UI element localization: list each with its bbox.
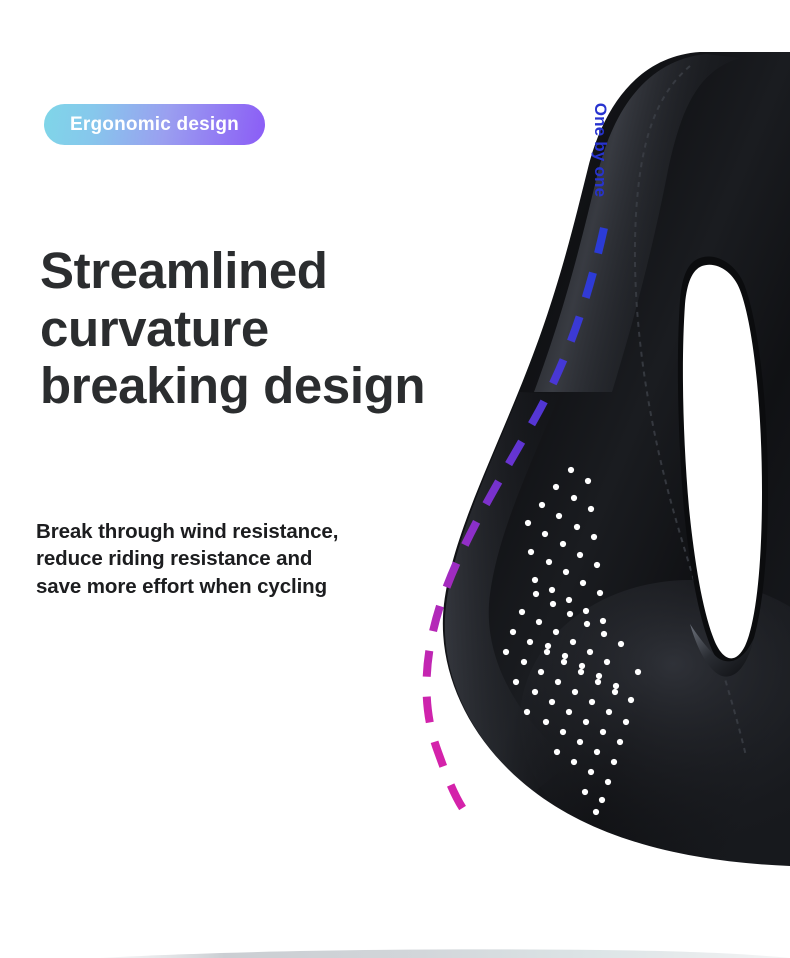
subcopy-line-2: reduce riding resistance and xyxy=(36,545,456,572)
page-headline: Streamlined curvature breaking design xyxy=(40,242,510,415)
ergonomic-design-badge[interactable]: Ergonomic design xyxy=(44,104,265,145)
saddle-cutout xyxy=(678,256,768,676)
page-subcopy: Break through wind resistance, reduce ri… xyxy=(36,518,456,600)
product-marketing-page: Ergonomic design Streamlined curvature b… xyxy=(0,0,790,958)
subcopy-line-1: Break through wind resistance, xyxy=(36,518,456,545)
headline-line-3: breaking design xyxy=(40,357,510,415)
perforation-upper-band xyxy=(525,467,606,624)
perforation-lower-field xyxy=(503,591,641,815)
headline-line-1: Streamlined xyxy=(40,242,510,300)
saddle-body xyxy=(443,52,790,866)
next-section-peek xyxy=(0,942,790,958)
subcopy-line-3: save more effort when cycling xyxy=(36,573,456,600)
vertical-caption: One by one xyxy=(587,80,613,220)
vertical-caption-label: One by one xyxy=(590,103,610,198)
badge-label: Ergonomic design xyxy=(70,114,239,136)
headline-line-2: curvature xyxy=(40,300,510,358)
